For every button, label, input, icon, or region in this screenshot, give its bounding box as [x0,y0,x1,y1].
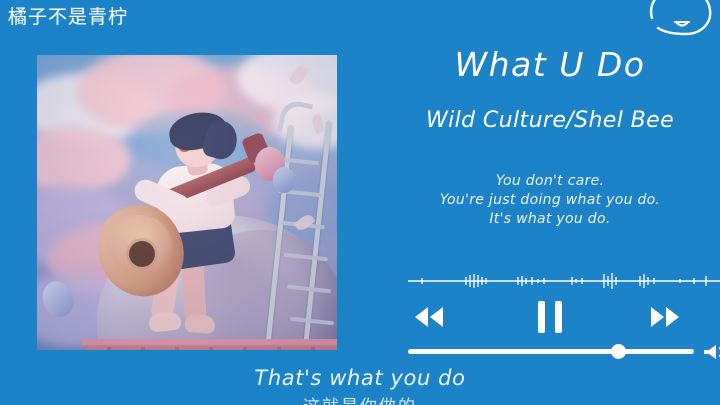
lyric-line: You're just doing what you do. [380,191,720,210]
song-artist: Wild Culture/Shel Bee [380,108,720,133]
channel-watermark: 橘子不是青柠 [8,2,128,29]
lyric-line: It's what you do. [380,210,720,229]
pause-button[interactable] [527,296,573,338]
transport-controls [380,296,720,338]
audio-waveform[interactable] [408,272,720,290]
album-artwork [37,55,337,350]
railing-bar [311,347,315,350]
railing-bar [141,347,145,350]
rewind-icon [409,303,449,331]
previous-button[interactable] [406,296,452,338]
next-button[interactable] [642,296,688,338]
railing-bar [209,347,213,350]
progress-track[interactable] [408,349,694,354]
railing-bar [243,347,247,350]
railing-bar [107,347,111,350]
railing-bar [277,347,281,350]
railing-top [81,339,337,345]
subtitle-chinese: 这就是你做的 [0,392,720,405]
pause-icon-bar [555,301,562,333]
volume-icon[interactable] [702,343,720,361]
figure-foot [184,314,215,334]
pause-icon-bar [538,301,545,333]
player-panel: What U Do Wild Culture/Shel Bee You don'… [380,0,720,405]
subtitle-english: That's what you do [0,366,720,390]
progress-bar[interactable] [408,344,714,358]
railing-bar [175,347,179,350]
progress-handle[interactable] [611,344,626,359]
lyric-line: You don't care. [380,172,720,191]
balloon [273,167,295,193]
figure-foot [148,311,182,332]
lyrics-block: You don't care. You're just doing what y… [380,172,720,229]
song-title: What U Do [380,48,720,83]
fast-forward-icon [645,303,685,331]
